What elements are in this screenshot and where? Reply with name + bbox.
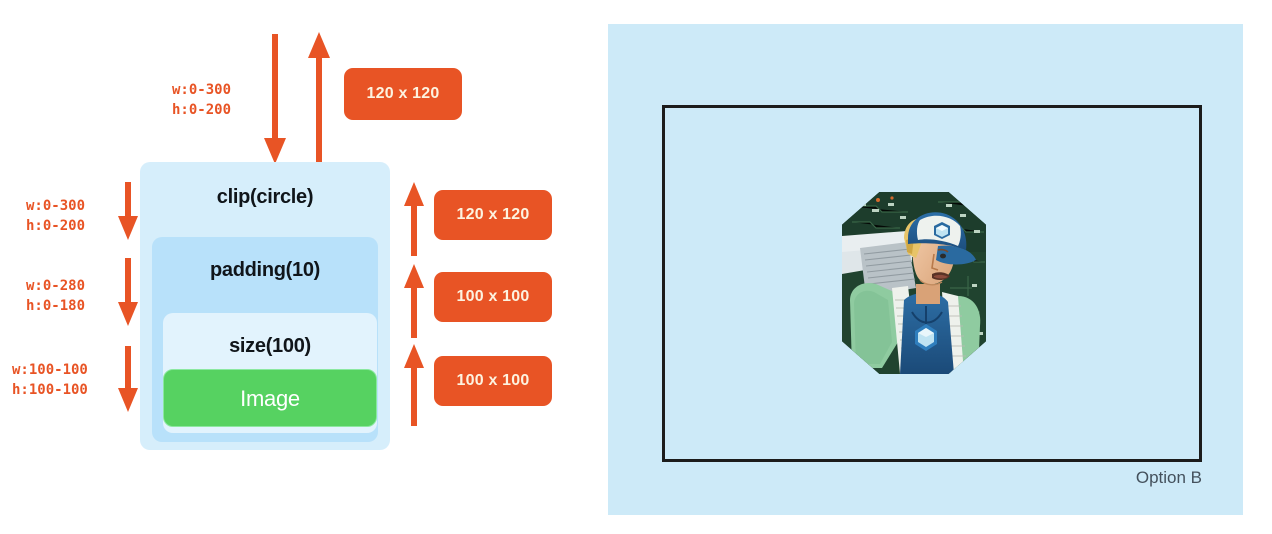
- box-clip-label: clip(circle): [140, 186, 390, 209]
- option-caption: Option B: [1136, 468, 1202, 488]
- constraint-label-top: w:0-300h:0-200: [172, 80, 231, 120]
- constraint-size-height: h:100-100: [12, 382, 88, 398]
- arrow-up-size-top: [306, 30, 332, 166]
- diagram-stage: w:0-300h:0-200 120 x 120 w:0-300h:0-200 …: [0, 0, 1272, 534]
- avatar-artwork: [842, 192, 986, 374]
- constraint-clip-height: h:0-200: [26, 218, 85, 234]
- constraint-flow-diagram: w:0-300h:0-200 120 x 120 w:0-300h:0-200 …: [0, 0, 600, 534]
- size-badge-image: 100 x 100: [434, 356, 552, 406]
- constraint-padding-height: h:0-180: [26, 298, 85, 314]
- size-badge-top: 120 x 120: [344, 68, 462, 120]
- constraint-label-clip: w:0-300h:0-200: [26, 196, 85, 236]
- size-badge-clip: 120 x 120: [434, 190, 552, 240]
- constraint-clip-width: w:0-300: [26, 198, 85, 214]
- box-padding: padding(10) size(100) Image: [152, 237, 378, 442]
- arrow-down-constraints-size: [116, 344, 140, 414]
- box-image-label: Image: [164, 386, 376, 412]
- arrow-down-constraints-top: [262, 30, 288, 166]
- size-badge-padding: 100 x 100: [434, 272, 552, 322]
- box-image: Image: [163, 369, 377, 427]
- constraint-label-padding: w:0-280h:0-180: [26, 276, 85, 316]
- arrow-down-constraints-clip: [116, 180, 140, 242]
- constraint-size-width: w:100-100: [12, 362, 88, 378]
- box-size-label: size(100): [163, 335, 377, 358]
- box-clip-circle: clip(circle) padding(10) size(100) Image: [140, 162, 390, 450]
- arrow-up-size-clip: [402, 180, 426, 258]
- arrow-up-size-image: [402, 342, 426, 428]
- arrow-up-size-padding: [402, 262, 426, 340]
- constraint-top-width: w:0-300: [172, 82, 231, 98]
- constraint-label-size: w:100-100h:100-100: [12, 360, 88, 400]
- constraint-top-height: h:0-200: [172, 102, 231, 118]
- arrow-down-constraints-padding: [116, 256, 140, 328]
- constraint-padding-width: w:0-280: [26, 278, 85, 294]
- box-padding-label: padding(10): [152, 259, 378, 282]
- avatar: [842, 192, 986, 374]
- preview-panel: Option B: [608, 24, 1243, 515]
